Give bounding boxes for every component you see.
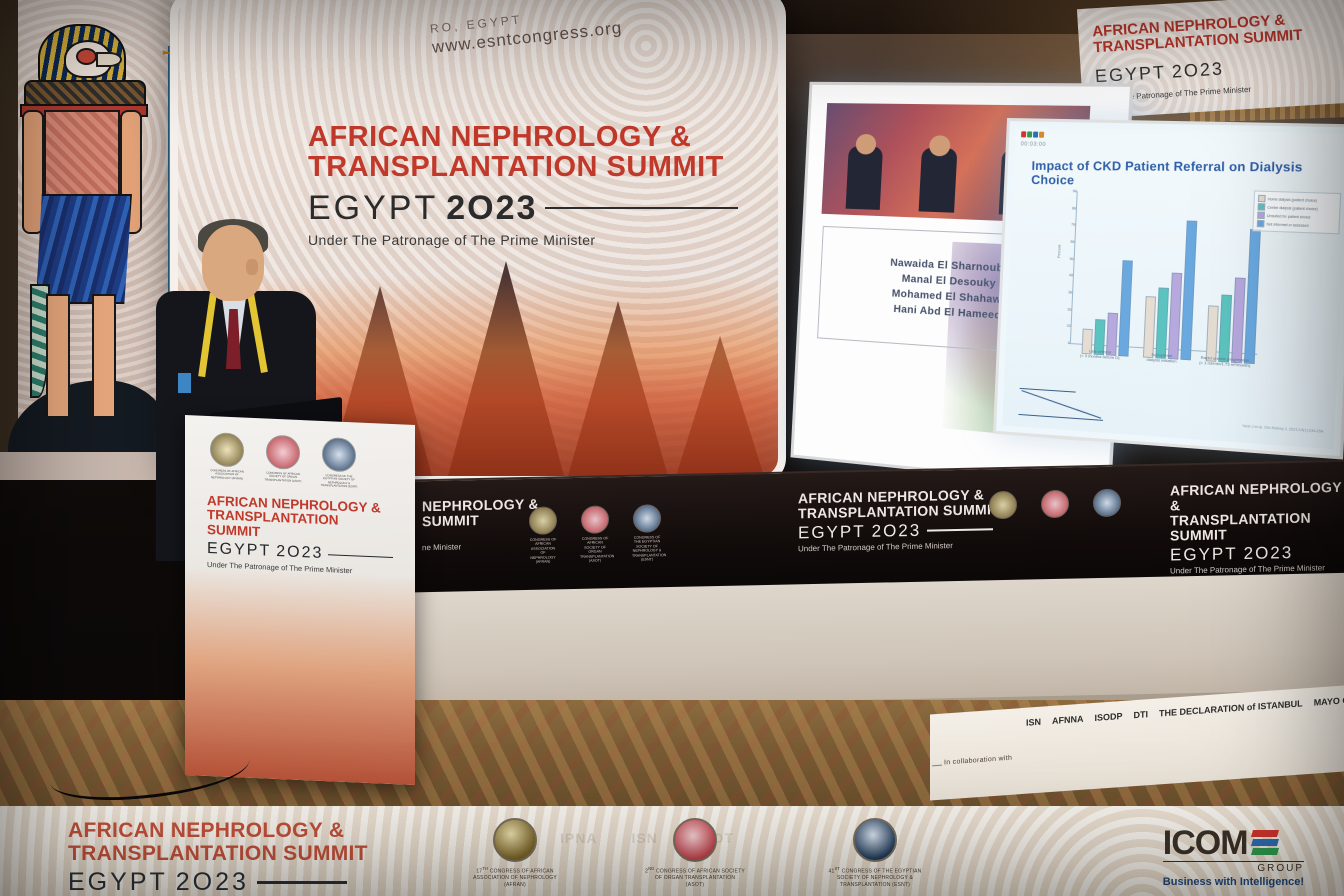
slide-logo-dot — [1033, 132, 1038, 138]
sponsor-label: In collaboration with — [944, 755, 1012, 767]
presentation-timer: 00:03:00 — [1021, 141, 1047, 148]
chart-category-label: Rapid uremia progression(> 1 ml/min/1.73… — [1193, 354, 1257, 369]
chart-bar — [1180, 220, 1197, 360]
backdrop-rule — [545, 207, 738, 209]
footer-rule — [257, 881, 347, 884]
chart-category-label: Suboptimaldialysis initiation — [1130, 351, 1193, 366]
footer-title-line2: TRANSPLANTATION SUMMIT — [68, 842, 368, 865]
sponsor-logo: ISODP — [1095, 711, 1123, 723]
chart-y-ticks: 0102030405060708090 — [1077, 191, 1265, 197]
mural-frame — [0, 0, 18, 480]
slide-logo-dot — [1039, 132, 1044, 138]
icom-group-label: GROUP — [1163, 861, 1304, 874]
chart-bar — [1244, 229, 1261, 364]
stage-banner-year: 2O23 — [872, 521, 922, 542]
podium-sign: CONGRESS OF AFRICAN ASSOCIATION OF NEPHR… — [185, 415, 415, 785]
chart-legend-item: Not informed or assessed — [1257, 220, 1336, 230]
chart-bar — [1118, 261, 1133, 357]
footer-title-block: AFRICAN NEPHROLOGY & TRANSPLANTATION SUM… — [68, 820, 368, 896]
speaker-name-4: Hani Abd El Hameed — [893, 304, 1001, 322]
stage-front-logo-row-mid — [988, 489, 1122, 520]
icom-tagline: Business with Intelligence! — [1163, 876, 1304, 888]
speaker-name-1: Nawaida El Sharnouby — [890, 257, 1010, 274]
podium-title-line2: TRANSPLANTATION SUMMIT — [207, 507, 339, 539]
slide-logo-dot — [1027, 131, 1032, 137]
backdrop-country: EGYPT — [308, 189, 438, 228]
sponsor-logo: THE DECLARATION of ISTANBUL — [1159, 698, 1303, 718]
sponsor-logo: MAYO CLINIC — [1314, 694, 1344, 708]
slide-logo-dots-icon — [1021, 131, 1045, 140]
bar-chart: Percent 0102030405060708090 Late referra… — [1069, 191, 1264, 364]
chart-bar — [1143, 296, 1156, 358]
icom-flag-stripe — [1251, 839, 1279, 846]
podium-year: 2O23 — [276, 543, 323, 563]
slide-citation: Neid J et al, Clin Kidney J, 2021;14(1):… — [1242, 424, 1323, 434]
chart-bar-group — [1143, 219, 1197, 360]
chart-bar-group — [1206, 228, 1261, 364]
icom-group-logo: ICOM GROUP Business with Intelligence! — [1163, 826, 1304, 888]
stage-banner-country: EGYPT — [798, 522, 866, 543]
speaker-name-2: Manal El Desouky — [901, 273, 996, 290]
slide-logo-dot — [1021, 131, 1026, 137]
podium-country: EGYPT — [207, 540, 271, 561]
stage-front-logo-row-left: CONGRESS OF AFRICAN ASSOCIATION OF NEPHR… — [528, 504, 662, 565]
podium-logo-row: CONGRESS OF AFRICAN ASSOCIATION OF NEPHR… — [207, 432, 359, 490]
name-badge — [178, 373, 191, 393]
icom-flag-icon — [1252, 830, 1278, 857]
icom-flag-stripe — [1251, 830, 1279, 837]
chart-y-axis-label: Percent — [1057, 245, 1062, 258]
horus-figure-icon: ☥ — [20, 18, 160, 438]
chart-bar-group — [1082, 259, 1133, 357]
congress-logo-asot: 2ND CONGRESS OF AFRICAN SOCIETY OF ORGAN… — [620, 818, 770, 889]
chart-bar — [1218, 294, 1232, 362]
conference-photo: ☥ AFRICAN NEPHROLOGY & TRANSPLANTATION S… — [0, 0, 1344, 896]
footer-bar: AFRICAN NEPHROLOGY & TRANSPLANTATION SUM… — [0, 806, 1344, 896]
footer-logo-row: 17TH CONGRESS OF AFRICAN ASSOCIATION OF … — [440, 818, 950, 889]
sponsor-logo: DTI — [1134, 709, 1149, 720]
backdrop-text-block: AFRICAN NEPHROLOGY & TRANSPLANTATION SUM… — [308, 123, 738, 248]
slide-signature-logo-icon — [1014, 384, 1108, 425]
sponsor-logo: ISN — [1026, 717, 1041, 728]
speaker-name-3: Mohamed El Shahawi — [892, 288, 1005, 306]
chart-bar — [1206, 306, 1219, 362]
backdrop-year: 2O23 — [446, 189, 537, 228]
footer-title-line1: AFRICAN NEPHROLOGY & — [68, 819, 344, 842]
stage-banner-line2: TRANSPLANTATION SUMMIT — [798, 501, 1000, 521]
backdrop-title-line1: AFRICAN NEPHROLOGY & — [308, 121, 691, 153]
backdrop-title-line2: TRANSPLANTATION SUMMIT — [308, 151, 724, 183]
projection-screen-right: 00:03:00 Impact of CKD Patient Referral … — [993, 118, 1344, 460]
presentation-slide: 00:03:00 Impact of CKD Patient Referral … — [1002, 127, 1344, 449]
footer-year: 2O23 — [176, 868, 249, 896]
chart-category-label: Late referral(< 3 months before D) — [1069, 347, 1131, 362]
wall-banner-year: 2O23 — [1171, 58, 1224, 82]
icom-flag-stripe — [1251, 848, 1279, 855]
congress-logo-esnt: 41ST CONGRESS OF THE EGYPTIAN SOCIETY OF… — [800, 818, 950, 889]
sponsor-logo: AFNNA — [1052, 714, 1084, 726]
slide-title: Impact of CKD Patient Referral on Dialys… — [1031, 159, 1342, 190]
icom-wordmark: ICOM — [1163, 826, 1248, 860]
chart-y-axis — [1070, 191, 1078, 343]
chart-bar — [1155, 288, 1169, 359]
congress-logo-afran: 17TH CONGRESS OF AFRICAN ASSOCIATION OF … — [440, 818, 590, 889]
footer-country: EGYPT — [68, 868, 168, 896]
chart-bar-groups — [1077, 191, 1265, 197]
chart-legend: Home dialysis (patient choice)Centre dia… — [1252, 190, 1341, 234]
backdrop-patronage: Under The Patronage of The Prime Ministe… — [308, 232, 738, 248]
